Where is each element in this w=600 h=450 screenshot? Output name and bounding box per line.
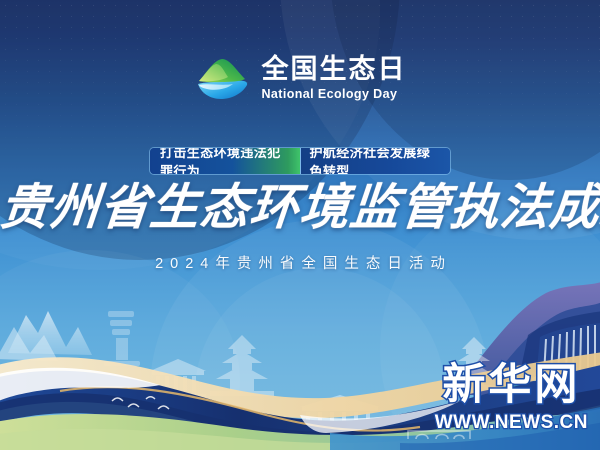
logo-title-en: National Ecology Day — [262, 88, 398, 101]
main-title: 贵州省生态环境监管执法成果展 — [0, 183, 600, 232]
watermark: 新华网 WWW.NEWS.CN — [435, 364, 588, 432]
slogan-left-text: 打击生态环境违法犯罪行为 — [150, 148, 300, 174]
logo-lockup: 全国生态日 National Ecology Day — [0, 54, 600, 102]
mountain-water-logo-icon — [194, 54, 252, 102]
watermark-cn: 新华网 — [435, 364, 588, 407]
slogan-right-text: 护航经济社会发展绿色转型 — [300, 148, 451, 174]
slogan-banner: 打击生态环境违法犯罪行为 护航经济社会发展绿色转型 — [150, 148, 450, 174]
event-subtitle: 2024年贵州省全国生态日活动 — [0, 252, 600, 273]
snow-peaks — [0, 311, 92, 361]
poster-canvas: 全国生态日 National Ecology Day 打击生态环境违法犯罪行为 … — [0, 0, 600, 450]
watermark-url: WWW.NEWS.CN — [435, 413, 588, 432]
logo-title-cn: 全国生态日 — [262, 56, 407, 83]
tower-silhouette — [104, 311, 140, 366]
